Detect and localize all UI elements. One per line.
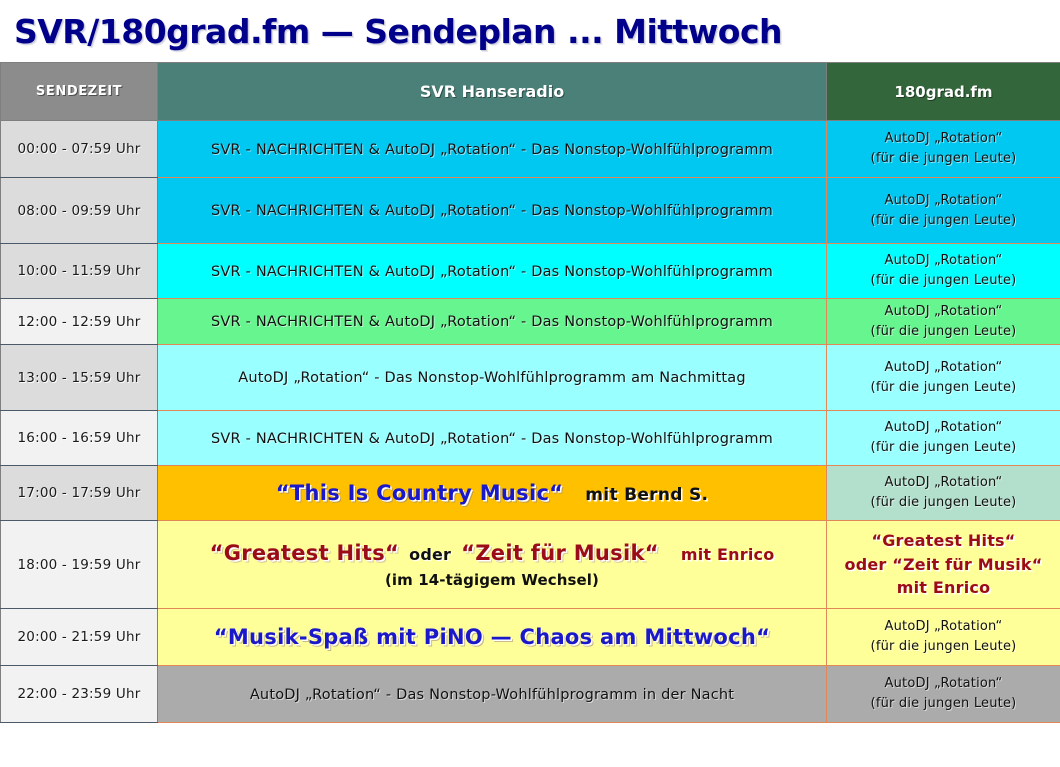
program-line: (für die jungen Leute) bbox=[827, 638, 1060, 656]
program-cell-180grad: AutoDJ „Rotation“(für die jungen Leute) bbox=[827, 244, 1060, 299]
table-row: 16:00 - 16:59 UhrSVR - NACHRICHTEN & Aut… bbox=[1, 411, 1060, 466]
program-cell-svr: AutoDJ „Rotation“ - Das Nonstop-Wohlfühl… bbox=[158, 666, 827, 723]
program-cell-180grad: AutoDJ „Rotation“(für die jungen Leute) bbox=[827, 299, 1060, 345]
time-slot-cell: 08:00 - 09:59 Uhr bbox=[1, 178, 158, 244]
program-subtitle: (im 14-tägigem Wechsel) bbox=[158, 570, 826, 590]
table-row: 20:00 - 21:59 Uhr“Musik-Spaß mit PiNO — … bbox=[1, 609, 1060, 666]
program-line: oder “Zeit für Musik“ bbox=[827, 554, 1060, 576]
program-cell-svr: “Musik-Spaß mit PiNO — Chaos am Mittwoch… bbox=[158, 609, 827, 666]
program-line: AutoDJ „Rotation“ bbox=[827, 675, 1060, 693]
program-line: AutoDJ „Rotation“ bbox=[827, 303, 1060, 321]
program-cell-180grad: AutoDJ „Rotation“(für die jungen Leute) bbox=[827, 609, 1060, 666]
program-line: AutoDJ „Rotation“ bbox=[827, 474, 1060, 492]
time-slot-cell: 16:00 - 16:59 Uhr bbox=[1, 411, 158, 466]
program-line: (für die jungen Leute) bbox=[827, 695, 1060, 713]
page-title: SVR/180grad.fm — Sendeplan ... Mittwoch bbox=[14, 12, 782, 51]
schedule-table: SENDEZEIT SVR Hanseradio 180grad.fm 00:0… bbox=[0, 62, 1060, 723]
program-cell-svr: “This Is Country Music“mit Bernd S. bbox=[158, 466, 827, 521]
table-row: 10:00 - 11:59 UhrSVR - NACHRICHTEN & Aut… bbox=[1, 244, 1060, 299]
program-line: (für die jungen Leute) bbox=[827, 212, 1060, 230]
program-line: mit Enrico bbox=[827, 577, 1060, 599]
time-slot-cell: 17:00 - 17:59 Uhr bbox=[1, 466, 158, 521]
program-line: (für die jungen Leute) bbox=[827, 379, 1060, 397]
program-host: mit Enrico bbox=[681, 545, 775, 564]
time-slot-cell: 22:00 - 23:59 Uhr bbox=[1, 666, 158, 723]
program-title: AutoDJ „Rotation“ - Das Nonstop-Wohlfühl… bbox=[250, 687, 734, 703]
program-cell-svr: SVR - NACHRICHTEN & AutoDJ „Rotation“ - … bbox=[158, 178, 827, 244]
table-row: 13:00 - 15:59 UhrAutoDJ „Rotation“ - Das… bbox=[1, 345, 1060, 411]
program-line: AutoDJ „Rotation“ bbox=[827, 419, 1060, 437]
schedule-table-body: 00:00 - 07:59 UhrSVR - NACHRICHTEN & Aut… bbox=[1, 121, 1060, 723]
program-line: (für die jungen Leute) bbox=[827, 494, 1060, 512]
program-title: SVR - NACHRICHTEN & AutoDJ „Rotation“ - … bbox=[211, 142, 773, 158]
column-header-sendezeit: SENDEZEIT bbox=[1, 63, 158, 121]
program-cell-180grad: AutoDJ „Rotation“(für die jungen Leute) bbox=[827, 466, 1060, 521]
program-cell-180grad: AutoDJ „Rotation“(für die jungen Leute) bbox=[827, 121, 1060, 178]
table-row: 12:00 - 12:59 UhrSVR - NACHRICHTEN & Aut… bbox=[1, 299, 1060, 345]
table-row: 17:00 - 17:59 Uhr“This Is Country Music“… bbox=[1, 466, 1060, 521]
program-line: AutoDJ „Rotation“ bbox=[827, 618, 1060, 636]
time-slot-cell: 12:00 - 12:59 Uhr bbox=[1, 299, 158, 345]
program-cell-svr: AutoDJ „Rotation“ - Das Nonstop-Wohlfühl… bbox=[158, 345, 827, 411]
program-title: “This Is Country Music“ bbox=[276, 481, 564, 505]
time-slot-cell: 13:00 - 15:59 Uhr bbox=[1, 345, 158, 411]
program-title: “Greatest Hits“ bbox=[210, 541, 400, 565]
program-cell-svr: SVR - NACHRICHTEN & AutoDJ „Rotation“ - … bbox=[158, 244, 827, 299]
page-title-bar: SVR/180grad.fm — Sendeplan ... Mittwoch bbox=[0, 0, 1060, 62]
program-line: AutoDJ „Rotation“ bbox=[827, 192, 1060, 210]
sendeplan-page: SVR/180grad.fm — Sendeplan ... Mittwoch … bbox=[0, 0, 1060, 767]
table-row: 22:00 - 23:59 UhrAutoDJ „Rotation“ - Das… bbox=[1, 666, 1060, 723]
program-line: (für die jungen Leute) bbox=[827, 272, 1060, 290]
program-title-alt: “Zeit für Musik“ bbox=[461, 541, 659, 565]
program-cell-svr: SVR - NACHRICHTEN & AutoDJ „Rotation“ - … bbox=[158, 121, 827, 178]
column-header-180grad-fm: 180grad.fm bbox=[827, 63, 1060, 121]
table-row: 00:00 - 07:59 UhrSVR - NACHRICHTEN & Aut… bbox=[1, 121, 1060, 178]
program-cell-svr: SVR - NACHRICHTEN & AutoDJ „Rotation“ - … bbox=[158, 411, 827, 466]
program-conjunction: oder bbox=[409, 545, 451, 564]
table-header-row: SENDEZEIT SVR Hanseradio 180grad.fm bbox=[1, 63, 1060, 121]
program-line: AutoDJ „Rotation“ bbox=[827, 252, 1060, 270]
table-row: 08:00 - 09:59 UhrSVR - NACHRICHTEN & Aut… bbox=[1, 178, 1060, 244]
time-slot-cell: 00:00 - 07:59 Uhr bbox=[1, 121, 158, 178]
program-cell-180grad: “Greatest Hits“oder “Zeit für Musik“mit … bbox=[827, 521, 1060, 609]
program-line: AutoDJ „Rotation“ bbox=[827, 359, 1060, 377]
program-title: AutoDJ „Rotation“ - Das Nonstop-Wohlfühl… bbox=[238, 370, 746, 386]
column-header-svr-hanseradio: SVR Hanseradio bbox=[158, 63, 827, 121]
program-cell-180grad: AutoDJ „Rotation“(für die jungen Leute) bbox=[827, 345, 1060, 411]
program-title: SVR - NACHRICHTEN & AutoDJ „Rotation“ - … bbox=[211, 264, 773, 280]
table-row: 18:00 - 19:59 Uhr“Greatest Hits“oder“Zei… bbox=[1, 521, 1060, 609]
program-line: “Greatest Hits“ bbox=[827, 530, 1060, 552]
program-title: SVR - NACHRICHTEN & AutoDJ „Rotation“ - … bbox=[211, 314, 773, 330]
program-cell-svr: “Greatest Hits“oder“Zeit für Musik“mit E… bbox=[158, 521, 827, 609]
program-line: (für die jungen Leute) bbox=[827, 323, 1060, 341]
time-slot-cell: 20:00 - 21:59 Uhr bbox=[1, 609, 158, 666]
program-cell-180grad: AutoDJ „Rotation“(für die jungen Leute) bbox=[827, 666, 1060, 723]
program-cell-svr: SVR - NACHRICHTEN & AutoDJ „Rotation“ - … bbox=[158, 299, 827, 345]
program-line: AutoDJ „Rotation“ bbox=[827, 130, 1060, 148]
program-title: SVR - NACHRICHTEN & AutoDJ „Rotation“ - … bbox=[211, 431, 773, 447]
program-line: (für die jungen Leute) bbox=[827, 150, 1060, 168]
program-title: “Musik-Spaß mit PiNO — Chaos am Mittwoch… bbox=[214, 625, 770, 649]
program-line: (für die jungen Leute) bbox=[827, 439, 1060, 457]
time-slot-cell: 10:00 - 11:59 Uhr bbox=[1, 244, 158, 299]
program-cell-180grad: AutoDJ „Rotation“(für die jungen Leute) bbox=[827, 178, 1060, 244]
program-cell-180grad: AutoDJ „Rotation“(für die jungen Leute) bbox=[827, 411, 1060, 466]
program-title: SVR - NACHRICHTEN & AutoDJ „Rotation“ - … bbox=[211, 203, 773, 219]
time-slot-cell: 18:00 - 19:59 Uhr bbox=[1, 521, 158, 609]
program-title-alt: mit Bernd S. bbox=[585, 485, 708, 505]
